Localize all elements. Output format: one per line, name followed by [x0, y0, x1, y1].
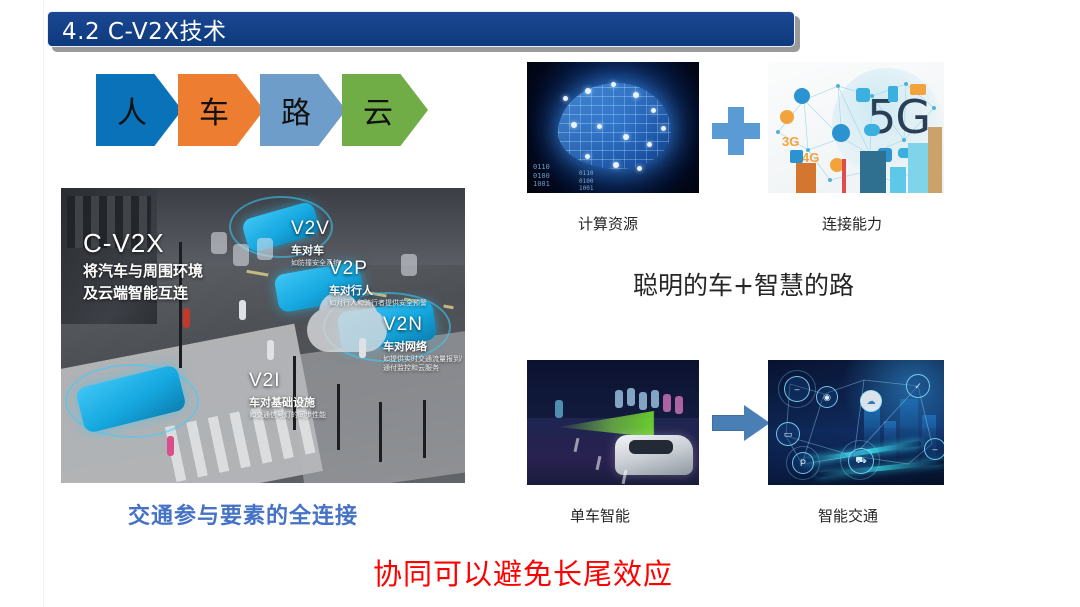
footer-statement: 协同可以避免长尾效应	[373, 551, 673, 593]
caption-smart-transportation: 智能交通	[818, 505, 878, 526]
signal-node-icon: ◉	[816, 386, 838, 408]
scene-pedestrian	[239, 300, 246, 320]
minus-node-icon: –	[924, 438, 944, 460]
brain-node	[585, 88, 591, 94]
v2n-code: V2N	[383, 314, 465, 336]
chevron-road[interactable]: 路	[260, 74, 346, 146]
plus-icon	[712, 107, 760, 155]
autonomous-car-night-image	[527, 360, 699, 485]
arrow-shaft	[712, 415, 746, 431]
digital-brain-image: 0110 0100 1001 0110 0100 1001	[527, 62, 699, 193]
chevron-cloud-label: 云	[363, 88, 393, 132]
slide-left-border	[43, 0, 44, 607]
v2p-desc: 如对行人和骑行者提供安全预警	[329, 300, 427, 309]
brain-binary-text-2: 0110 0100 1001	[579, 170, 593, 192]
parking-node-icon: P	[792, 452, 814, 474]
caption-connection-capability: 连接能力	[822, 213, 882, 234]
v2i-zh: 车对基础设施	[249, 394, 326, 410]
brain-node	[563, 96, 568, 101]
scene-pole	[423, 400, 426, 458]
scene-overlay-line2: 及云端智能互连	[83, 282, 188, 303]
smart-city-image: – ◉ ▭ P ⛟ ✓ – ☁	[768, 360, 944, 485]
scene-pedestrian	[167, 436, 174, 456]
arrow-right-icon	[712, 405, 770, 441]
car-node-icon: ⛟	[848, 448, 874, 474]
night-pedestrian	[651, 390, 659, 408]
v2v-code: V2V	[291, 218, 340, 240]
cloud-node-icon: ☁	[860, 390, 882, 412]
scene-pedestrian	[359, 338, 366, 358]
brain-node	[597, 124, 602, 129]
scene-ghost-car	[233, 244, 249, 266]
night-pedestrian	[639, 392, 647, 410]
brain-node	[611, 82, 616, 87]
scene-label-v2n: V2N 车对网络 如提供实时交通流量报到/通付监控和云服务	[383, 314, 465, 374]
caption-compute-resource: 计算资源	[578, 213, 638, 234]
page-title: 4.2 C-V2X技术	[48, 12, 227, 46]
night-pedestrian	[555, 400, 563, 418]
building-shape	[890, 167, 906, 193]
bus-node-icon: ▭	[776, 422, 800, 446]
scene-pole	[379, 402, 382, 462]
arrow-head	[744, 405, 770, 441]
building-shape	[860, 151, 886, 193]
cloud-icon	[864, 124, 880, 136]
v2i-desc: 如交通信号灯的同步性能	[249, 412, 326, 421]
5g-label: 5G	[867, 90, 930, 144]
night-pedestrian	[675, 396, 683, 414]
night-pedestrian	[663, 394, 671, 412]
v2p-code: V2P	[329, 258, 427, 280]
v2v-zh: 车对车	[291, 242, 340, 258]
chevron-vehicle-label: 车	[199, 88, 229, 132]
minus-node-icon: –	[784, 376, 810, 402]
caption-single-vehicle-intelligence: 单车智能	[570, 505, 630, 526]
scene-overlay-title: C-V2X	[83, 228, 165, 259]
scene-ghost-car	[211, 232, 227, 254]
brain-node	[661, 126, 666, 131]
v2i-code: V2I	[249, 370, 326, 392]
title-bar: 4.2 C-V2X技术	[47, 11, 795, 47]
scene-pole	[337, 384, 340, 450]
camera-icon	[910, 84, 926, 95]
scene-ghost-car	[257, 238, 273, 260]
v2n-desc: 如提供实时交通流量报到/通付监控和云服务	[383, 356, 465, 374]
antenna-shape	[842, 159, 846, 193]
v2p-zh: 车对行人	[329, 282, 427, 298]
chevron-vehicle[interactable]: 车	[178, 74, 264, 146]
scene-pedestrian	[267, 340, 274, 360]
brain-node	[585, 154, 590, 159]
3g-label: 3G	[782, 134, 799, 149]
shirt-icon	[856, 88, 870, 102]
search-icon	[780, 110, 794, 124]
brain-node	[651, 108, 656, 113]
night-pedestrian	[615, 390, 623, 408]
chevron-flow: 人 车 路 云	[96, 74, 424, 146]
lock-icon	[790, 150, 803, 163]
left-photo-caption: 交通参与要素的全连接	[128, 498, 358, 530]
building-shape	[928, 127, 942, 193]
brain-node	[613, 162, 619, 168]
scene-cloud-icon	[307, 308, 387, 352]
night-car	[615, 435, 693, 475]
brain-node	[571, 122, 577, 128]
building-shape	[796, 163, 816, 193]
chevron-cloud[interactable]: 云	[342, 74, 428, 146]
night-pedestrian	[627, 388, 635, 406]
scene-pedestrian	[183, 308, 190, 328]
chevron-person-label: 人	[117, 88, 147, 132]
globe-icon	[832, 124, 850, 142]
brain-node	[623, 134, 629, 140]
brain-binary-text: 0110 0100 1001	[533, 163, 550, 189]
brain-node	[637, 166, 642, 171]
phone-icon	[888, 86, 898, 102]
cv2x-scene-image: C-V2X 将汽车与周围环境 及云端智能互连 V2V 车对车 如防撞安全系统 V…	[61, 188, 465, 483]
v2n-zh: 车对网络	[383, 338, 465, 354]
check-node-icon: ✓	[906, 374, 930, 398]
chevron-road-label: 路	[281, 88, 311, 132]
brain-node	[633, 92, 639, 98]
scene-overlay-line1: 将汽车与周围环境	[83, 260, 203, 281]
scene-label-v2i: V2I 车对基础设施 如交通信号灯的同步性能	[249, 370, 326, 421]
slide-canvas: 4.2 C-V2X技术 人 车 路 云	[0, 0, 1080, 607]
user-icon	[794, 88, 810, 104]
brain-node	[647, 142, 652, 147]
middle-statement: 聪明的车+智慧的路	[633, 266, 854, 302]
scene-label-v2p: V2P 车对行人 如对行人和骑行者提供安全预警	[329, 258, 427, 309]
chevron-person[interactable]: 人	[96, 74, 182, 146]
5g-network-image: 5G 3G 4G	[768, 62, 944, 193]
